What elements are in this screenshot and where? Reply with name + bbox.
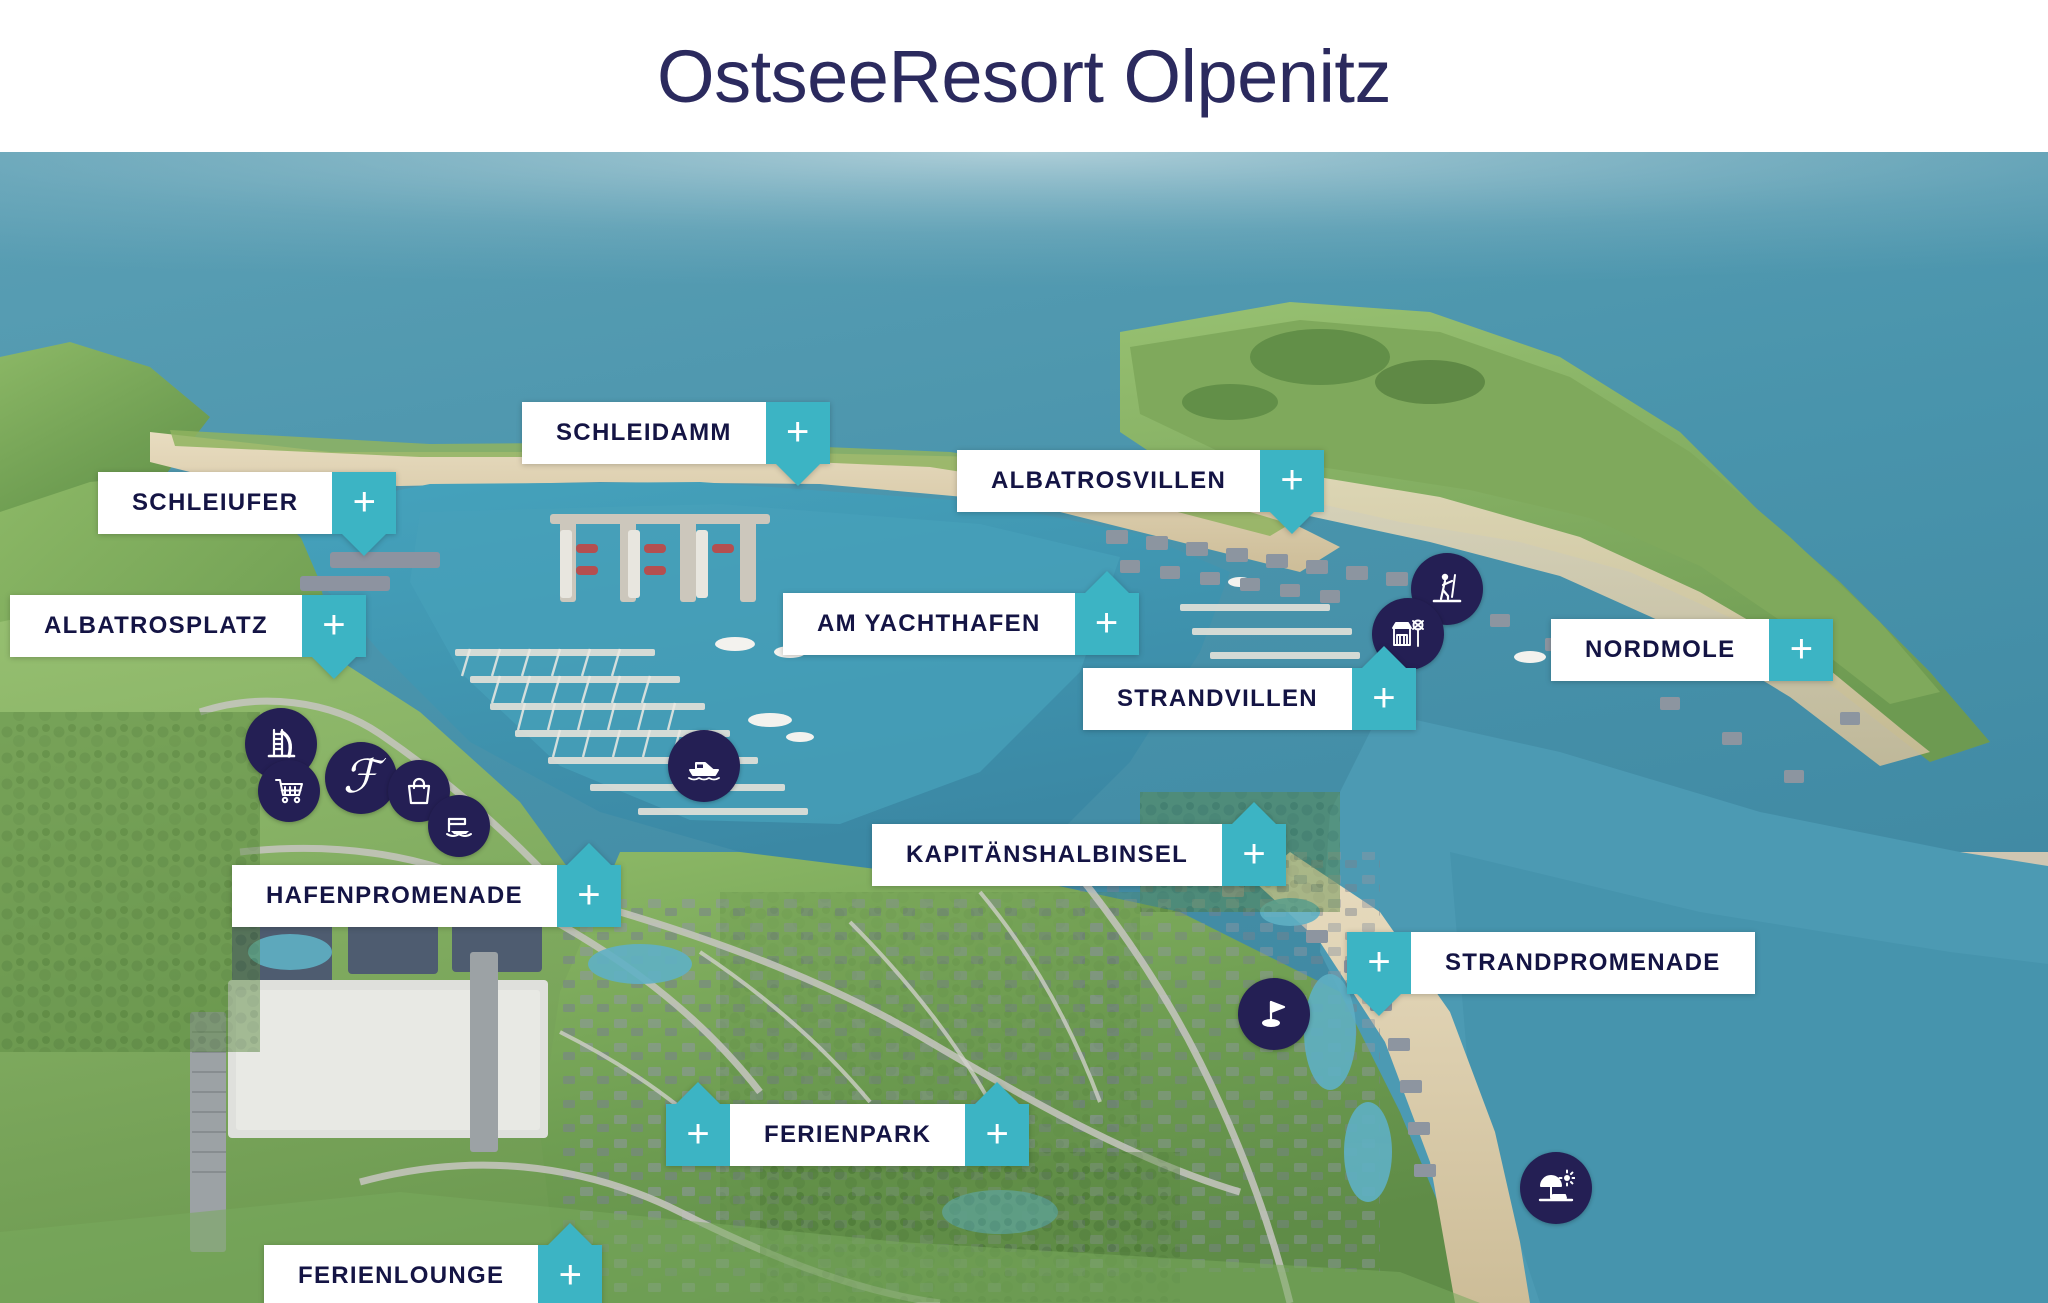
plus-button-left[interactable]: +	[666, 1104, 730, 1166]
plus-glyph: +	[577, 875, 600, 915]
shopping-cart-icon[interactable]	[258, 760, 320, 822]
plus-glyph: +	[1367, 942, 1390, 982]
hotspot-albatrosvillen[interactable]: ALBATROSVILLEN +	[957, 450, 1324, 512]
plus-glyph: +	[1095, 603, 1118, 643]
boat-dock-icon[interactable]	[428, 795, 490, 857]
hotspot-label: SCHLEIDAMM	[522, 402, 766, 464]
plus-button[interactable]: +	[1769, 619, 1833, 681]
plus-button[interactable]: +	[1352, 668, 1416, 730]
resort-aerial-map[interactable]: ℱ	[0, 152, 2048, 1303]
golf-flag-icon[interactable]	[1238, 978, 1310, 1050]
hotspot-label: AM YACHTHAFEN	[783, 593, 1075, 655]
hotspot-schleiufer[interactable]: SCHLEIUFER +	[98, 472, 396, 534]
hotspot-label: STRANDVILLEN	[1083, 668, 1352, 730]
hotspot-label: KAPITÄNSHALBINSEL	[872, 824, 1222, 886]
plus-glyph: +	[1280, 460, 1303, 500]
plus-glyph: +	[559, 1255, 582, 1295]
beach-umbrella-icon[interactable]	[1520, 1152, 1592, 1224]
plus-button[interactable]: +	[1222, 824, 1286, 886]
hotspot-label: STRANDPROMENADE	[1411, 932, 1755, 994]
hotspot-label: SCHLEIUFER	[98, 472, 332, 534]
plus-glyph: +	[1790, 629, 1813, 669]
hotspot-nordmole[interactable]: NORDMOLE +	[1551, 619, 1833, 681]
hotspot-strandvillen[interactable]: STRANDVILLEN +	[1083, 668, 1416, 730]
hotspot-kapitaenshalbinsel[interactable]: KAPITÄNSHALBINSEL +	[872, 824, 1286, 886]
plus-glyph: +	[986, 1114, 1009, 1154]
hotspot-label: ALBATROSPLATZ	[10, 595, 302, 657]
hotspot-strandpromenade[interactable]: STRANDPROMENADE +	[1347, 932, 1755, 994]
plus-button[interactable]: +	[302, 595, 366, 657]
hotspot-label: FERIENPARK	[730, 1104, 965, 1166]
script-f-glyph: ℱ	[343, 753, 379, 799]
plus-button-right[interactable]: +	[965, 1104, 1029, 1166]
plus-glyph: +	[686, 1114, 709, 1154]
plus-button[interactable]: +	[766, 402, 830, 464]
plus-glyph: +	[1372, 678, 1395, 718]
hotspot-am-yachthafen[interactable]: AM YACHTHAFEN +	[783, 593, 1139, 655]
plus-button[interactable]: +	[1260, 450, 1324, 512]
plus-glyph: +	[786, 412, 809, 452]
hotspot-hafenpromenade[interactable]: HAFENPROMENADE +	[232, 865, 621, 927]
title-bar: OstseeResort Olpenitz	[0, 0, 2048, 152]
plus-button[interactable]: +	[557, 865, 621, 927]
plus-glyph: +	[353, 482, 376, 522]
hotspot-label: ALBATROSVILLEN	[957, 450, 1260, 512]
hotspot-label: FERIENLOUNGE	[264, 1245, 538, 1303]
plus-glyph: +	[322, 605, 345, 645]
hotspot-schleidamm[interactable]: SCHLEIDAMM +	[522, 402, 830, 464]
plus-button[interactable]: +	[538, 1245, 602, 1303]
resort-map-page: OstseeResort Olpenitz	[0, 0, 2048, 1303]
plus-button[interactable]: +	[1075, 593, 1139, 655]
plus-glyph: +	[1242, 834, 1265, 874]
hotspot-label: NORDMOLE	[1551, 619, 1769, 681]
script-f-icon[interactable]: ℱ	[325, 742, 397, 814]
hotspot-albatrosplatz[interactable]: ALBATROSPLATZ +	[10, 595, 366, 657]
plus-button[interactable]: +	[332, 472, 396, 534]
page-title: OstseeResort Olpenitz	[657, 34, 1391, 119]
hotspot-label: HAFENPROMENADE	[232, 865, 557, 927]
hotspot-ferienlounge[interactable]: FERIENLOUNGE +	[264, 1245, 602, 1303]
plus-button[interactable]: +	[1347, 932, 1411, 994]
motorboat-icon[interactable]	[668, 730, 740, 802]
hotspot-ferienpark[interactable]: + FERIENPARK +	[666, 1104, 1029, 1166]
